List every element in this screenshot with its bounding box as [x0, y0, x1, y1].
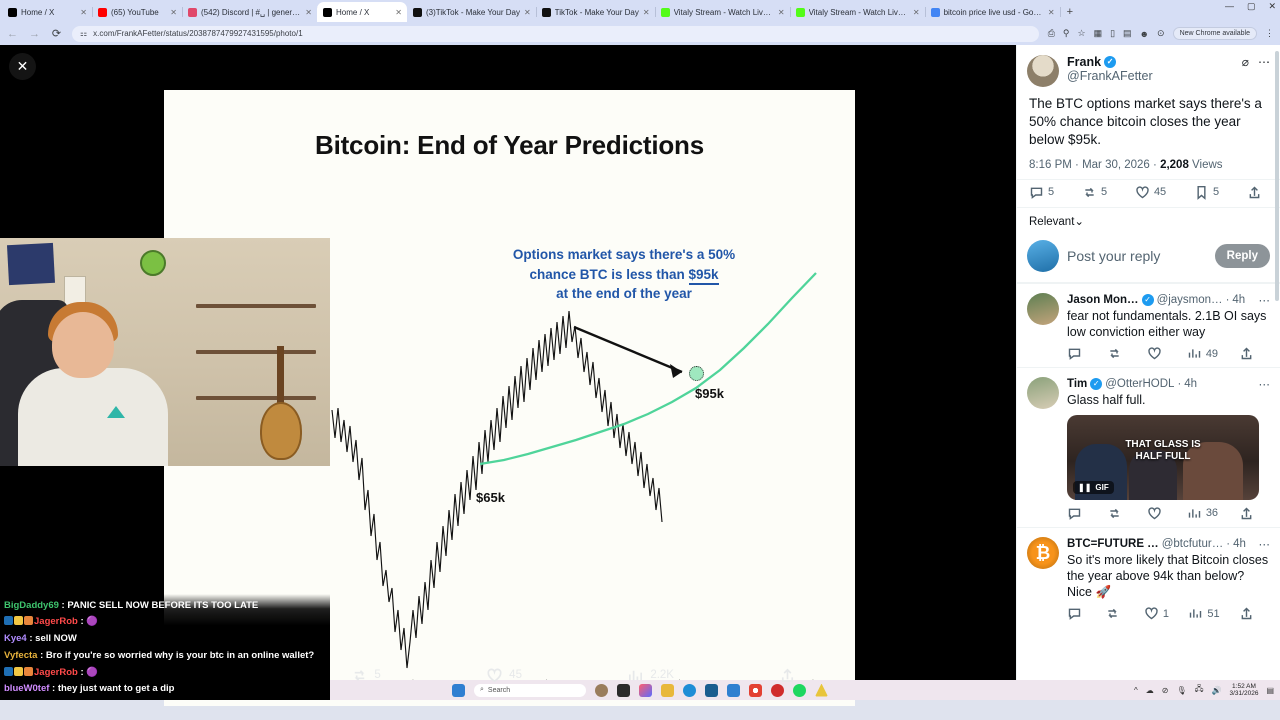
viewer-views-button[interactable]: 2.2K	[627, 667, 674, 684]
reply-share-button[interactable]	[1239, 346, 1258, 361]
chat-username[interactable]: blueW0tef	[4, 683, 49, 694]
reply-age: 4h	[1233, 538, 1246, 550]
reply-like-button[interactable]	[1147, 346, 1166, 361]
webcam-overlay	[0, 238, 330, 466]
reading-list-icon[interactable]: ▤	[1123, 28, 1132, 39]
chat-sep: :	[49, 683, 57, 694]
reply-views-button[interactable]: 36	[1187, 506, 1218, 521]
chat-message: JagerRob : 🟣	[0, 614, 330, 631]
tab-title: bitcoin price live usd - Google	[944, 8, 1044, 17]
reply-repost-button[interactable]	[1105, 606, 1124, 621]
viewer-like-button[interactable]: 45	[486, 667, 522, 684]
reply-author-name: BTC=FUTURE …	[1067, 538, 1159, 550]
tweet-repost-button[interactable]: 5	[1082, 185, 1107, 200]
shelf-3	[196, 396, 316, 400]
tab-close-icon[interactable]: ✕	[305, 8, 312, 17]
views-count: 49	[1206, 348, 1218, 360]
reply-views-button[interactable]: 49	[1187, 346, 1218, 361]
reply-author-name: Jason Mon…	[1067, 294, 1139, 306]
browser-tab[interactable]: bitcoin price live usd - Google✕	[925, 2, 1060, 22]
chat-sep: :	[37, 650, 45, 661]
gif-caption-1: THAT GLASS IS	[1125, 439, 1200, 450]
browser-tab[interactable]: (3)TikTok - Make Your Day✕	[407, 2, 536, 22]
reply-gif[interactable]: THAT GLASS ISHALF FULL❚❚GIF	[1067, 415, 1259, 500]
verified-badge-icon: ✓	[1142, 294, 1154, 306]
repost-icon	[1105, 606, 1120, 621]
settings-icon[interactable]: ⊙	[1157, 28, 1165, 39]
chrome-menu-icon[interactable]: ⋮	[1265, 28, 1274, 39]
reply-views-button[interactable]: 51	[1188, 606, 1219, 621]
chat-badge-icon	[4, 616, 13, 625]
tab-close-icon[interactable]: ✕	[643, 8, 650, 17]
reply-age-sep: ·	[1177, 378, 1181, 390]
reply-text: So it's more likely that Bitcoin closes …	[1067, 552, 1270, 601]
taskbar-clock[interactable]: 1:52 AM 3/31/2026	[1230, 683, 1259, 697]
tab-close-icon[interactable]: ✕	[80, 8, 87, 17]
tweet-actions: 55455	[1017, 179, 1280, 208]
annotation-arrow-line	[574, 327, 682, 372]
update-chip[interactable]: New Chrome available	[1173, 27, 1257, 40]
window-close-button[interactable]: ✕	[1268, 1, 1276, 12]
like-count: 45	[1154, 186, 1166, 198]
profile-icon[interactable]: ☻	[1140, 29, 1149, 39]
streamer-face	[52, 312, 114, 378]
chat-message: JagerRob : 🟣	[0, 665, 330, 682]
window-maximize-button[interactable]: ▢	[1247, 1, 1256, 12]
youtube-icon	[98, 8, 107, 17]
bookmark-icon	[1194, 185, 1209, 200]
tweet-reply-button[interactable]: 5	[1029, 185, 1054, 200]
reply-age: 4h	[1232, 294, 1245, 306]
reply-age: 4h	[1184, 378, 1197, 390]
reply-composer: Post your reply Reply	[1017, 234, 1280, 283]
reply-author-handle: @jaysmon…	[1157, 294, 1223, 306]
chat-username[interactable]: BigDaddy69	[4, 600, 59, 611]
back-button[interactable]: ←	[6, 28, 19, 40]
annotation-arrow-head	[670, 364, 682, 378]
photo-viewer: ✕ Bitcoin: End of Year Predictions Optio…	[0, 45, 1016, 700]
reply-reply-button[interactable]	[1067, 506, 1086, 521]
window-minimize-button[interactable]: —	[1225, 1, 1234, 12]
reply-repost-button[interactable]	[1107, 506, 1126, 521]
reply-like-button[interactable]: 1	[1144, 606, 1169, 621]
reply-reply-button[interactable]	[1067, 606, 1086, 621]
scrollbar[interactable]	[1275, 51, 1279, 301]
share-icon	[1247, 185, 1262, 200]
extensions-icon[interactable]: ▦	[1094, 28, 1103, 39]
tab-close-icon[interactable]: ✕	[778, 8, 785, 17]
repost-icon	[351, 667, 368, 684]
tab-title: (542) Discord | #␣ | general |	[201, 8, 301, 17]
tab-title: Vitaly Stream - Watch Live on	[809, 8, 909, 17]
reply-age-sep: ·	[1226, 538, 1230, 550]
reply-share-button[interactable]	[1239, 506, 1258, 521]
reply-text: fear not fundamentals. 2.1B OI says low …	[1067, 308, 1270, 341]
mute-icon[interactable]: ⊘	[1162, 686, 1169, 695]
browser-tab[interactable]: (65) YouTube✕	[92, 2, 182, 22]
chat-username[interactable]: Vyfecta	[4, 650, 37, 661]
tab-close-icon[interactable]: ✕	[1048, 8, 1055, 17]
google-icon	[931, 8, 940, 17]
page-root: Search Upgrade to Premium+ Enjoy additio…	[0, 45, 1280, 700]
label-65k: $65k	[476, 490, 505, 505]
browser-tab[interactable]: Home / X✕	[317, 2, 407, 22]
reply-actions: 49	[1067, 340, 1270, 363]
browser-tab[interactable]: Vitaly Stream - Watch Live on✕	[655, 2, 790, 22]
reply-actions: 151	[1067, 600, 1270, 623]
annotation-line-2: chance BTC is less than	[529, 267, 688, 282]
repost-count: 5	[374, 669, 380, 681]
highlight-point	[689, 366, 704, 381]
reply-icon	[1067, 346, 1082, 361]
cast-icon[interactable]: ⎙	[1048, 28, 1055, 39]
tab-close-icon[interactable]: ✕	[524, 8, 531, 17]
shelf-1	[196, 304, 316, 308]
zoom-icon[interactable]: ⚲	[1063, 28, 1070, 39]
new-tab-button[interactable]: +	[1060, 2, 1080, 22]
replies-list: Jason Mon…✓@jaysmon… · 4h⋯fear not funda…	[1017, 283, 1280, 628]
views-count: 36	[1206, 507, 1218, 519]
tab-strip: Home / X✕(65) YouTube✕(542) Discord | #␣…	[0, 0, 1280, 22]
omnibox-actions: ⎙ ⚲ ☆ ▦ ▯ ▤ ☻ ⊙ New Chrome available ⋮	[1048, 27, 1274, 40]
annotation-line-1: Options market says there's a 50%	[513, 247, 735, 262]
browser-tab[interactable]: TikTok - Make Your Day✕	[536, 2, 655, 22]
pause-icon[interactable]: ❚❚	[1078, 483, 1091, 492]
like-icon	[1144, 606, 1159, 621]
address-bar[interactable]: ⚏ x.com/FrankAFetter/status/203878747992…	[72, 26, 1039, 42]
chat-sep: :	[78, 616, 86, 627]
like-icon	[1135, 185, 1150, 200]
share-icon	[1239, 506, 1254, 521]
tweet-time: 8:16 PM	[1029, 159, 1072, 171]
chat-text: Bro if you're so worried why is your btc…	[46, 650, 314, 661]
reply-icon	[1067, 506, 1082, 521]
x-icon	[8, 8, 17, 17]
clock-date: 3/31/2026	[1230, 690, 1259, 697]
reply-age-sep: ·	[1226, 294, 1230, 306]
reply-icon	[1029, 185, 1044, 200]
views-count: 51	[1207, 608, 1219, 620]
chevron-down-icon: ⌄	[1074, 216, 1084, 228]
reply-reply-button[interactable]	[1067, 346, 1086, 361]
chat-text: 🟣	[86, 616, 98, 627]
chat-text: sell NOW	[35, 633, 77, 644]
tab-close-icon[interactable]: ✕	[170, 8, 177, 17]
like-count: 1	[1163, 608, 1169, 620]
chat-text: they just want to get a dip	[58, 683, 175, 694]
chat-badge-icon	[14, 616, 23, 625]
tweet-timestamp: 8:16 PM · Mar 30, 2026 · 2,208 Views	[1017, 151, 1280, 179]
reply-input[interactable]: Post your reply	[1067, 248, 1207, 264]
chat-sep: :	[27, 633, 35, 644]
stream-chat-overlay: BigDaddy69 : PANIC SELL NOW BEFORE ITS T…	[0, 594, 330, 700]
show-hidden-icons-icon[interactable]: ^	[1134, 686, 1138, 695]
sort-selector[interactable]: Relevant⌄	[1017, 208, 1280, 234]
tiktok-icon	[413, 8, 422, 17]
kick-icon	[661, 8, 670, 17]
chat-sep: :	[78, 667, 86, 678]
close-icon[interactable]: ✕	[9, 53, 36, 80]
share-icon	[779, 667, 796, 684]
tab-title: (65) YouTube	[111, 8, 166, 17]
tweet-like-button[interactable]: 45	[1135, 185, 1166, 200]
tweet-bookmark-button[interactable]: 5	[1194, 185, 1219, 200]
repost-count: 5	[1101, 186, 1107, 198]
chat-username[interactable]: Kye4	[4, 633, 27, 644]
sort-label: Relevant	[1029, 216, 1074, 228]
reply-text: Glass half full.	[1067, 392, 1270, 408]
annotation-line-3: at the end of the year	[556, 286, 692, 301]
viewer-repost-button[interactable]: 5	[351, 667, 380, 684]
chat-badge-icon	[4, 667, 13, 676]
more-icon[interactable]: ⋯	[1259, 377, 1271, 391]
viewer-share-button[interactable]	[779, 667, 802, 684]
chat-message: Vyfecta : Bro if you're so worried why i…	[0, 648, 330, 665]
tweet-views-count: 2,208	[1160, 159, 1189, 171]
url-text: x.com/FrankAFetter/status/20387874799274…	[93, 29, 302, 38]
avatar[interactable]	[1027, 55, 1059, 87]
like-icon	[1147, 346, 1162, 361]
chat-badge-icon	[24, 616, 33, 625]
site-settings-icon[interactable]: ⚏	[80, 29, 87, 38]
reply-icon	[1067, 606, 1082, 621]
tab-title: (3)TikTok - Make Your Day	[426, 8, 520, 17]
x-icon	[323, 8, 332, 17]
reply-author-handle: @OtterHODL	[1105, 378, 1174, 390]
omnibox-bar: ← → ⟳ ⚏ x.com/FrankAFetter/status/203878…	[0, 22, 1280, 45]
chat-message: blueW0tef : they just want to get a dip	[0, 681, 330, 698]
mic-icon[interactable]: 🎙	[1176, 686, 1186, 695]
repost-icon	[1082, 185, 1097, 200]
wall-art	[7, 243, 55, 285]
tab-title: Vitaly Stream - Watch Live on	[674, 8, 774, 17]
avatar[interactable]	[1027, 293, 1059, 325]
expand-icon[interactable]: »	[1239, 53, 1266, 80]
system-tray: ^ ☁ ⊘ 🎙 🖧 🔊 1:52 AM 3/31/2026 ▤	[1134, 683, 1274, 697]
split-screen-icon[interactable]: ▯	[1110, 28, 1115, 39]
author-handle[interactable]: @FrankAFetter	[1067, 69, 1153, 83]
onedrive-icon[interactable]: ☁	[1146, 686, 1154, 695]
verified-badge-icon: ✓	[1090, 378, 1102, 390]
reply-count: 5	[1048, 186, 1054, 198]
reply-share-button[interactable]	[1239, 606, 1258, 621]
views-icon	[1187, 346, 1202, 361]
share-icon	[1239, 346, 1254, 361]
repost-icon	[1107, 506, 1122, 521]
chat-badge-icon	[14, 667, 23, 676]
avatar[interactable]: ₿	[1027, 537, 1059, 569]
pepe-sticker-icon	[140, 250, 166, 276]
chat-badge-icon	[24, 667, 33, 676]
share-icon	[1239, 606, 1254, 621]
tiktok-icon	[542, 8, 551, 17]
author-name-row: Frank ✓	[1067, 55, 1153, 69]
like-icon	[486, 667, 503, 684]
chat-text: 🟣	[86, 667, 98, 678]
tweet-text: The BTC options market says there's a 50…	[1017, 87, 1280, 151]
network-icon[interactable]: 🖧	[1195, 683, 1204, 697]
reload-button[interactable]: ⟳	[50, 27, 63, 40]
tab-close-icon[interactable]: ✕	[395, 8, 402, 17]
like-count: 45	[509, 669, 522, 681]
browser-chrome: Home / X✕(65) YouTube✕(542) Discord | #␣…	[0, 0, 1280, 45]
chat-text: PANIC SELL NOW BEFORE ITS TOO LATE	[67, 600, 258, 611]
kick-icon	[796, 8, 805, 17]
reply-author-name: Tim	[1067, 378, 1087, 390]
more-icon[interactable]: ⋯	[1259, 293, 1271, 307]
window-controls: — ▢ ✕	[1225, 1, 1276, 12]
reply-button[interactable]: Reply	[1215, 244, 1270, 268]
tweet-detail-panel: Frank ✓ @FrankAFetter ⌀ ⋯ The BTC option…	[1016, 45, 1280, 700]
tab-title: TikTok - Make Your Day	[555, 8, 639, 17]
avatar[interactable]	[1027, 240, 1059, 272]
gif-caption-2: HALF FULL	[1136, 451, 1191, 462]
gif-badge: GIF	[1095, 483, 1108, 492]
chat-message: Kye4 : sell NOW	[0, 631, 330, 648]
guitar-body	[260, 402, 302, 460]
tweet-views-label: Views	[1192, 159, 1222, 171]
browser-tab[interactable]: Vitaly Stream - Watch Live on✕	[790, 2, 925, 22]
bookmark-count: 5	[1213, 186, 1219, 198]
reply-like-button[interactable]	[1147, 506, 1166, 521]
repost-icon	[1107, 346, 1122, 361]
reply-repost-button[interactable]	[1107, 346, 1126, 361]
tweet-share-button[interactable]	[1247, 185, 1266, 200]
chat-message: BigDaddy69 : PANIC SELL NOW BEFORE ITS T…	[0, 598, 330, 615]
tab-close-icon[interactable]: ✕	[913, 8, 920, 17]
more-icon[interactable]: ⋯	[1259, 537, 1271, 551]
guitar-neck	[277, 346, 284, 408]
streamer-body	[18, 368, 168, 466]
views-icon	[1188, 606, 1203, 621]
reply-actions: 36	[1067, 500, 1270, 523]
discord-icon	[188, 8, 197, 17]
reply-item[interactable]: Jason Mon…✓@jaysmon… · 4h⋯fear not funda…	[1017, 283, 1280, 368]
tweet-date: Mar 30, 2026	[1082, 159, 1150, 171]
verified-badge-icon: ✓	[1104, 56, 1116, 68]
clock-time: 1:52 AM	[1232, 683, 1256, 690]
tab-title: Home / X	[21, 8, 76, 17]
views-icon	[1187, 506, 1202, 521]
volume-icon[interactable]: 🔊	[1212, 686, 1222, 695]
annotation-underlined-value: $95k	[689, 267, 719, 285]
bookmark-star-icon[interactable]: ☆	[1077, 28, 1085, 39]
views-count: 2.2K	[650, 669, 674, 681]
browser-tab[interactable]: (542) Discord | #␣ | general |✕	[182, 2, 317, 22]
chart-annotation: Options market says there's a 50% chance…	[464, 245, 784, 304]
avatar[interactable]	[1027, 377, 1059, 409]
label-95k: $95k	[695, 386, 724, 401]
like-icon	[1147, 506, 1162, 521]
shelf-2	[196, 350, 316, 354]
forward-button[interactable]: →	[28, 28, 41, 40]
tab-title: Home / X	[336, 8, 391, 17]
browser-tab[interactable]: Home / X✕	[2, 2, 92, 22]
chat-username[interactable]: JagerRob	[34, 667, 78, 678]
chat-username[interactable]: JagerRob	[34, 616, 78, 627]
reply-item[interactable]: Tim✓@OtterHODL · 4h⋯Glass half full.THAT…	[1017, 367, 1280, 526]
views-icon	[627, 667, 644, 684]
reply-item[interactable]: ₿BTC=FUTURE …@btcfutur… · 4h⋯So it's mor…	[1017, 527, 1280, 628]
author-name[interactable]: Frank	[1067, 55, 1101, 69]
notification-icon[interactable]: ▤	[1266, 686, 1274, 695]
reply-author-handle: @btcfutur…	[1162, 538, 1224, 550]
